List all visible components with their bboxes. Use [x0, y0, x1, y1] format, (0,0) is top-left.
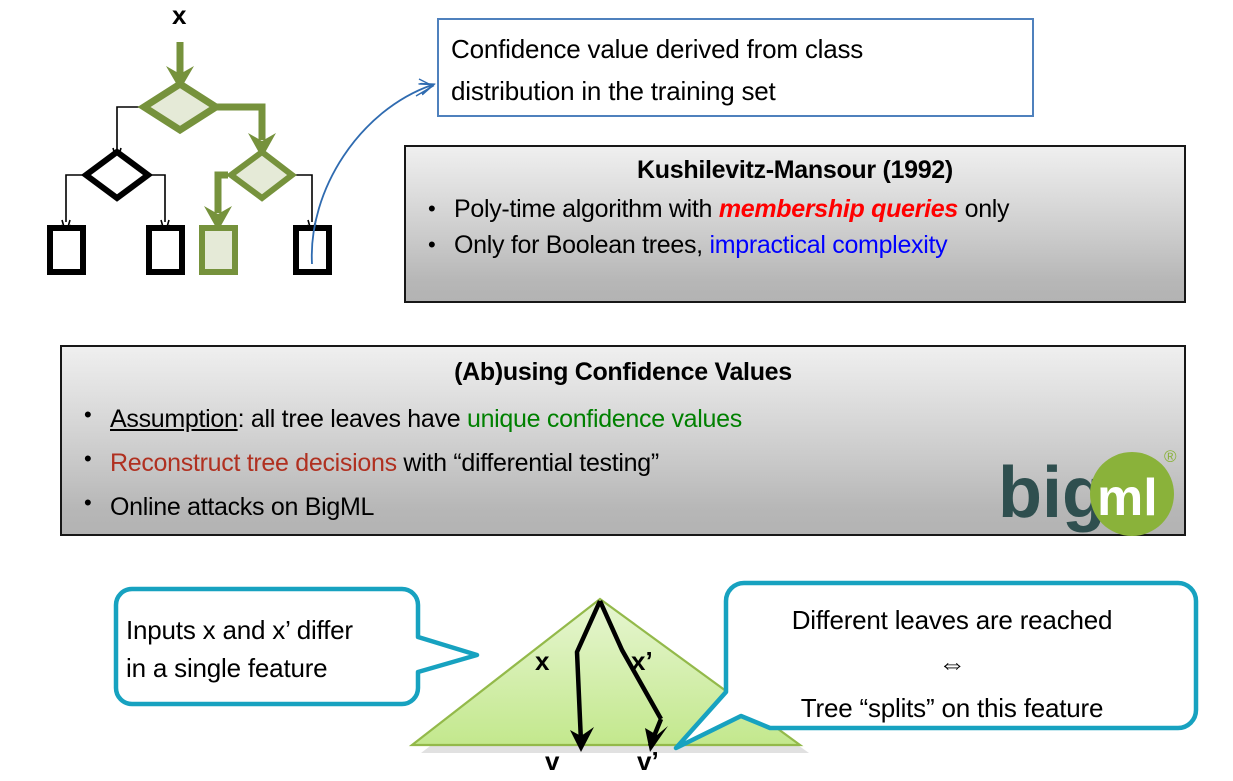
bullet-icon: •	[84, 397, 110, 433]
tree-node-root	[144, 84, 216, 130]
triangle-label-x-prime: x’	[631, 648, 653, 674]
callout-line-1: Confidence value derived from class	[451, 28, 1032, 70]
triangle-path-x	[577, 601, 600, 742]
bullet-text-segment: Only for Boolean trees,	[454, 231, 709, 259]
km-panel-title: Kushilevitz-Mansour (1992)	[406, 156, 1184, 185]
bullet-icon: •	[84, 441, 110, 477]
slide-canvas: x Confidence value derived from class di…	[0, 0, 1233, 781]
bigml-wordmark-big: big	[998, 453, 1106, 533]
triangle-label-v: v	[545, 748, 559, 774]
bullet-text: Online attacks on BigML	[110, 485, 374, 529]
bigml-wordmark-ml: ml	[1097, 469, 1158, 527]
bullet-text-segment: : all tree leaves have	[238, 405, 467, 433]
bullet-text-underlined-assumption: Assumption	[110, 405, 238, 433]
list-item: • Assumption: all tree leaves have uniqu…	[84, 397, 1184, 441]
bubble-left-line-1: Inputs x and x’ differ	[126, 611, 353, 649]
abusing-panel-title: (Ab)using Confidence Values	[62, 358, 1184, 387]
list-item: • Only for Boolean trees, impractical co…	[428, 227, 1184, 263]
triangle-path-x-prime-tail	[650, 719, 661, 746]
bullet-text-emphasis-unique-confidence-values: unique confidence values	[467, 405, 742, 433]
bullet-text-segment: with “differential testing”	[397, 449, 659, 477]
bigml-logo-svg: big ml ®	[998, 445, 1184, 537]
tree-node-right-internal	[231, 152, 292, 198]
abusing-confidence-values-panel: (Ab)using Confidence Values • Assumption…	[60, 345, 1186, 536]
triangle-label-v-prime: v’	[637, 748, 659, 774]
bullet-text-emphasis-reconstruct-tree-decisions: Reconstruct tree decisions	[110, 449, 397, 477]
bullet-icon: •	[428, 227, 454, 263]
callout-connector-arrowhead-secondary	[416, 79, 433, 96]
bullet-icon: •	[428, 191, 454, 227]
bullet-text-segment-tail: only	[958, 195, 1009, 223]
registered-trademark-icon: ®	[1164, 447, 1177, 466]
tree-leaf-3-highlighted	[202, 228, 235, 272]
bullet-text-emphasis-membership-queries: membership queries	[719, 195, 958, 223]
tree-plain-edges	[61, 107, 317, 235]
bubble-right-line-3: Tree “splits” on this feature	[737, 686, 1167, 730]
speech-bubble-left-text: Inputs x and x’ differ in a single featu…	[126, 611, 353, 687]
tree-highlight-path	[166, 42, 276, 231]
bullet-text: Poly-time algorithm with membership quer…	[454, 191, 1009, 227]
triangle-label-x: x	[535, 648, 549, 674]
bullet-icon: •	[84, 485, 110, 521]
confidence-callout-box: Confidence value derived from class dist…	[437, 18, 1034, 117]
tree-node-left-internal	[86, 152, 148, 198]
bubble-left-line-2: in a single feature	[126, 649, 353, 687]
km-bullet-list: • Poly-time algorithm with membership qu…	[406, 191, 1184, 263]
tree-input-label: x	[172, 2, 186, 28]
tree-leaf-2	[149, 228, 182, 272]
bullet-text-segment: Poly-time algorithm with	[454, 195, 719, 223]
kushilevitz-mansour-panel: Kushilevitz-Mansour (1992) • Poly-time a…	[404, 145, 1186, 303]
bullet-text-emphasis-impractical-complexity: impractical complexity	[709, 231, 947, 259]
bullet-text: Only for Boolean trees, impractical comp…	[454, 227, 947, 263]
list-item: • Poly-time algorithm with membership qu…	[428, 191, 1184, 227]
bubble-right-line-1: Different leaves are reached	[737, 598, 1167, 642]
tree-leaf-1	[50, 228, 83, 272]
bullet-text: Assumption: all tree leaves have unique …	[110, 397, 742, 441]
triangle-arrowhead-x	[570, 727, 594, 752]
speech-bubble-right-text: Different leaves are reached ⇔ Tree “spl…	[737, 598, 1167, 730]
bubble-right-line-2: ⇔	[737, 642, 1167, 686]
callout-line-2: distribution in the training set	[451, 70, 1032, 112]
bullet-text: Reconstruct tree decisions with “differe…	[110, 441, 659, 485]
bigml-logo: big ml ®	[998, 445, 1184, 537]
tree-leaf-4	[296, 228, 329, 272]
decision-tree-diagram	[50, 42, 433, 272]
